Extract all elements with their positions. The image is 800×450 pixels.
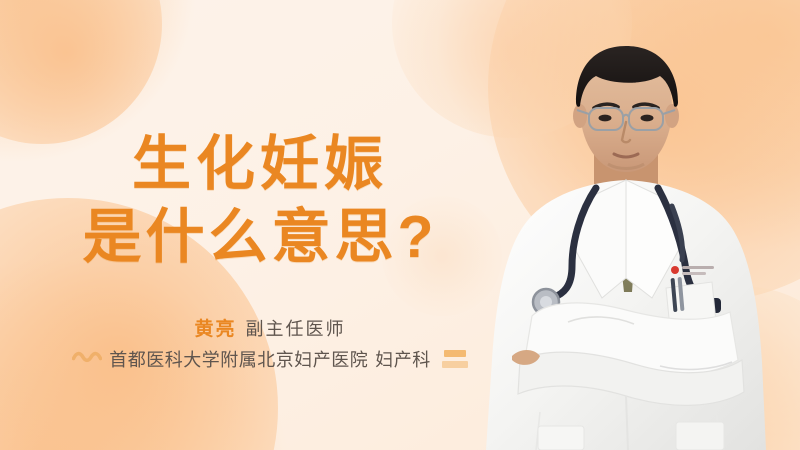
doctor-portrait	[476, 30, 800, 450]
video-thumbnail-card: 生化妊娠 是什么意思? 黄亮 副主任医师 首都医科大学附属北京妇产医院 妇产科	[0, 0, 800, 450]
headline-line-1: 生化妊娠	[0, 128, 520, 201]
double-bar-ornament-icon	[442, 350, 468, 368]
background-circle-top-left	[0, 0, 162, 144]
credentials-hospital-row: 首都医科大学附属北京妇产医院 妇产科	[0, 346, 540, 372]
wave-ornament-icon	[72, 350, 102, 369]
credentials-block: 黄亮 副主任医师 首都医科大学附属北京妇产医院 妇产科	[0, 314, 540, 372]
headline-line-2: 是什么意思?	[0, 201, 520, 274]
doctor-title: 副主任医师	[246, 315, 346, 341]
headline-block: 生化妊娠 是什么意思?	[0, 128, 520, 274]
credentials-name-row: 黄亮 副主任医师	[0, 314, 540, 341]
doctor-name: 黄亮	[194, 314, 236, 341]
department-name: 妇产科	[375, 346, 431, 372]
hospital-name: 首都医科大学附属北京妇产医院	[109, 346, 368, 372]
